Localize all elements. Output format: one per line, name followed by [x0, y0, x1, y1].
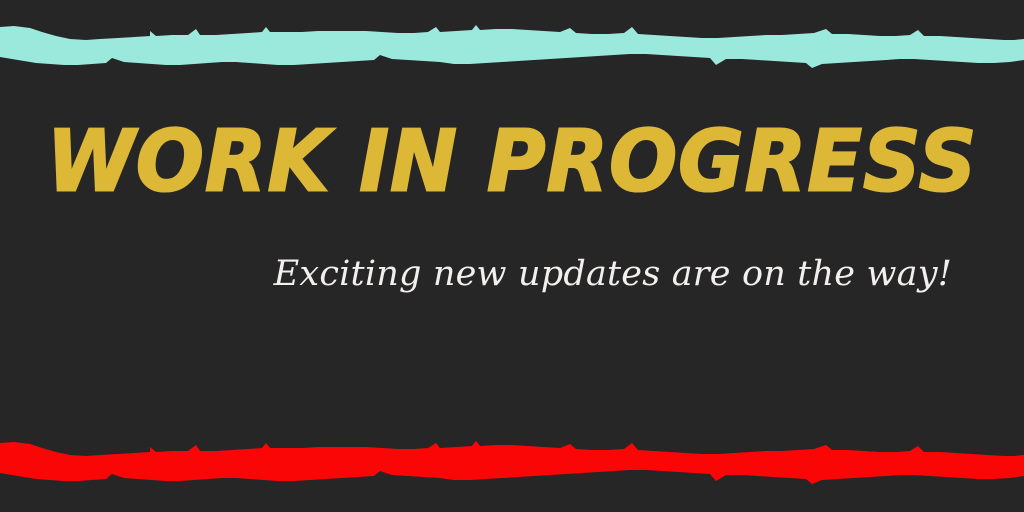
poster-canvas: WORK IN PROGRESS Exciting new updates ar…: [0, 0, 1024, 512]
headline-text: WORK IN PROGRESS: [0, 112, 1024, 212]
top-brush-stroke: [0, 18, 1024, 78]
bottom-brush-stroke: [0, 432, 1024, 494]
bottom-brush-stroke-shape: [0, 432, 1024, 494]
top-brush-stroke-shape: [0, 18, 1024, 78]
subtitle-text: Exciting new updates are on the way!: [0, 252, 988, 296]
